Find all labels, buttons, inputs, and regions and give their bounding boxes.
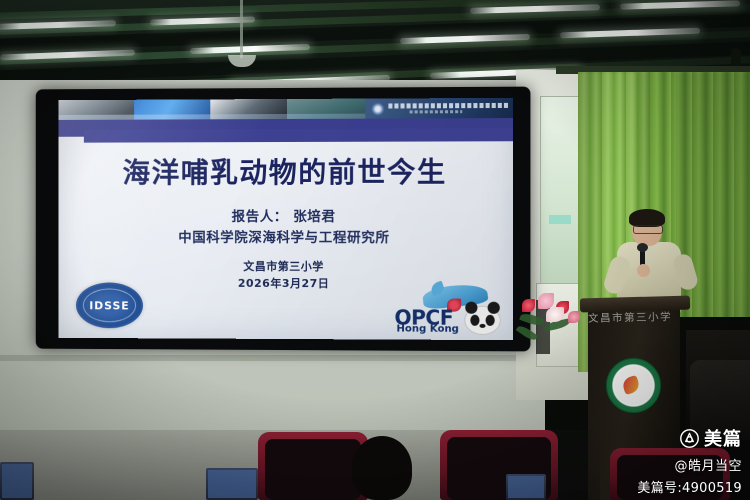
slide-presenter-block: 报告人： 张培君 中国科学院深海科学与工程研究所 [58, 207, 513, 249]
venue-line: 文昌市第三小学 [58, 259, 513, 276]
slide-header-bar-offset [84, 128, 513, 143]
watermark-user-id: 美篇号:4900519 [637, 477, 742, 496]
presentation-slide: 海洋哺乳动物的前世今生 报告人： 张培君 中国科学院深海科学与工程研究所 文昌市… [58, 98, 513, 340]
affiliation-line: 中国科学院深海科学与工程研究所 [58, 228, 513, 249]
idsse-logo: IDSSE [76, 282, 143, 328]
microphone-head-icon [637, 243, 648, 252]
glasses-icon [633, 225, 663, 234]
institute-seal-icon [371, 103, 384, 116]
watermark-app-name: 美篇 [704, 425, 742, 451]
panda-icon [464, 306, 501, 335]
meipian-logo [680, 429, 699, 448]
screenshot-root: 海洋哺乳动物的前世今生 报告人： 张培君 中国科学院深海科学与工程研究所 文昌市… [0, 0, 750, 500]
watermark-username: @皓月当空 [637, 455, 742, 474]
laptop [0, 462, 34, 500]
laptop [506, 474, 546, 500]
laptop [206, 468, 258, 500]
podium-school-name: 文昌市第三小学 [570, 309, 690, 327]
speaker-hand [637, 264, 650, 277]
opcf-logo: OPCF Hong Kong [394, 285, 500, 334]
watermark: 美篇 @皓月当空 美篇号:4900519 [637, 425, 742, 496]
flower-red [522, 299, 535, 312]
audience-head [352, 436, 412, 500]
institute-name-subtext [409, 110, 462, 113]
flower-white [546, 307, 564, 322]
school-emblem [606, 358, 661, 413]
idsse-logo-text: IDSSE [89, 299, 129, 312]
window-sticker [549, 215, 571, 224]
opcf-logo-subtext: Hong Kong [396, 324, 458, 335]
wall-seam [0, 355, 545, 361]
ceiling-fan-rod [240, 0, 243, 58]
institute-name-text [388, 103, 509, 109]
watermark-brand: 美篇 [637, 425, 742, 451]
slide-title: 海洋哺乳动物的前世今生 [58, 150, 513, 191]
presenter-line: 报告人： 张培君 [58, 207, 513, 228]
